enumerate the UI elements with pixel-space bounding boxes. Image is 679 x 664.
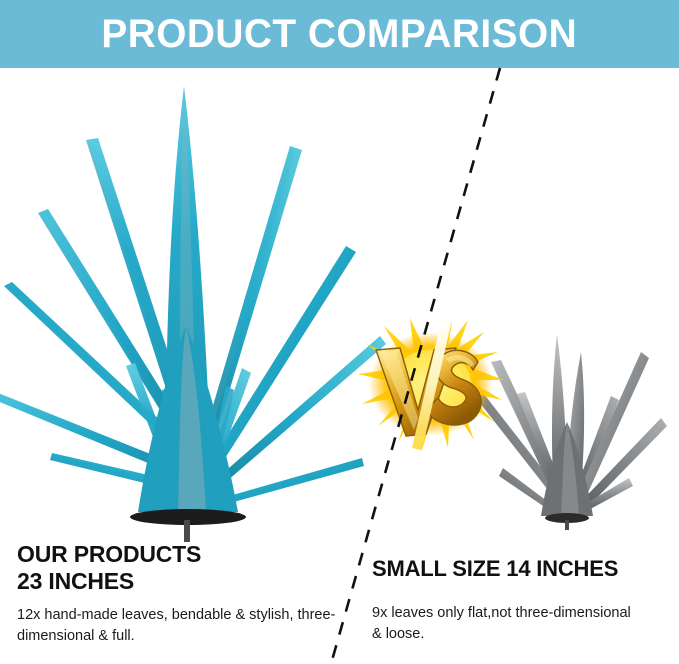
- right-product-description: 9x leaves only flat,not three-dimensiona…: [372, 603, 637, 644]
- vs-badge: [356, 318, 506, 453]
- product-comparison-page: PRODUCT COMPARISON: [0, 0, 679, 664]
- comparison-stage: [0, 68, 679, 540]
- left-product-heading-line2: 23 INCHES: [17, 568, 357, 595]
- agave-plant-teal-icon: [0, 68, 390, 538]
- left-product-heading-line1: OUR PRODUCTS: [17, 541, 357, 568]
- left-product-caption: OUR PRODUCTS 23 INCHES 12x hand-made lea…: [17, 541, 357, 646]
- right-product-heading-line1: SMALL SIZE 14 INCHES: [372, 556, 672, 582]
- right-product-caption: SMALL SIZE 14 INCHES 9x leaves only flat…: [372, 556, 672, 644]
- left-product-description: 12x hand-made leaves, bendable & stylish…: [17, 605, 347, 646]
- page-title: PRODUCT COMPARISON: [102, 14, 578, 54]
- header-banner: PRODUCT COMPARISON: [0, 0, 679, 68]
